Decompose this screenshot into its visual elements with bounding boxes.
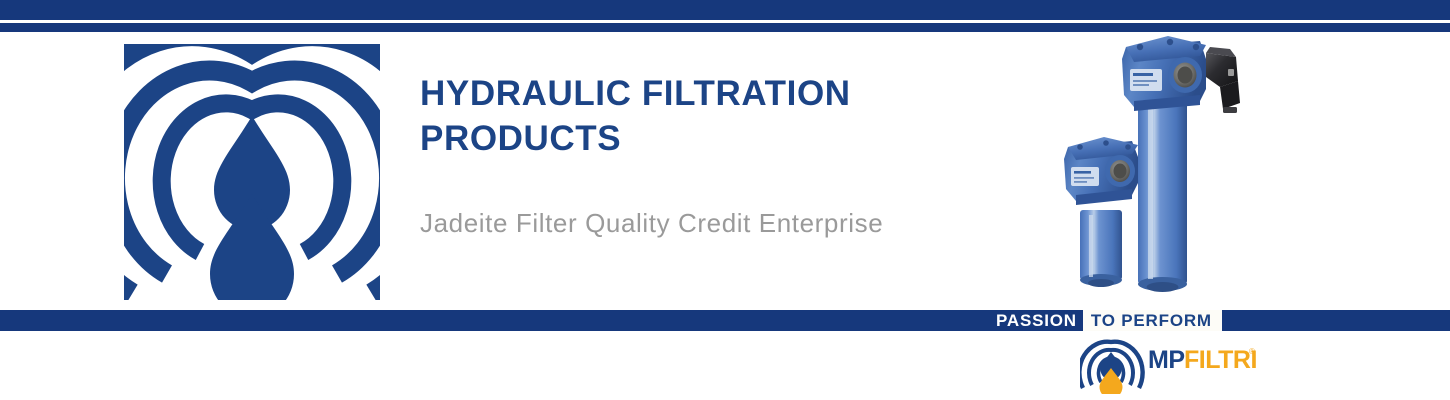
bottom-band <box>0 310 1450 331</box>
page-subtitle: Jadeite Filter Quality Credit Enterprise <box>420 162 1040 239</box>
logo-trademark: ® <box>1249 347 1255 356</box>
din-connector-icon <box>1206 47 1240 113</box>
mpfiltri-arcs-drops-icon <box>1080 342 1143 394</box>
tagline-passion: PASSION <box>992 310 1083 331</box>
tagline: PASSION TO PERFORM <box>992 310 1222 331</box>
small-filter-housing <box>1064 137 1138 287</box>
mpfiltri-corporate-logo: MP FILTRI ® <box>1080 338 1258 394</box>
tall-filter-housing <box>1122 36 1240 292</box>
top-rule-thick <box>0 0 1450 20</box>
hydraulic-filtration-banner: HYDRAULIC FILTRATION PRODUCTS Jadeite Fi… <box>0 0 1450 400</box>
logo-text-filtri: FILTRI <box>1184 346 1257 374</box>
headline-block: HYDRAULIC FILTRATION PRODUCTS Jadeite Fi… <box>420 72 1040 239</box>
logo-text-mp: MP <box>1148 346 1185 374</box>
tagline-to-perform: TO PERFORM <box>1083 310 1222 331</box>
brand-mark-logo <box>124 44 380 300</box>
product-photo <box>1060 25 1290 310</box>
page-title: HYDRAULIC FILTRATION PRODUCTS <box>420 72 1040 162</box>
